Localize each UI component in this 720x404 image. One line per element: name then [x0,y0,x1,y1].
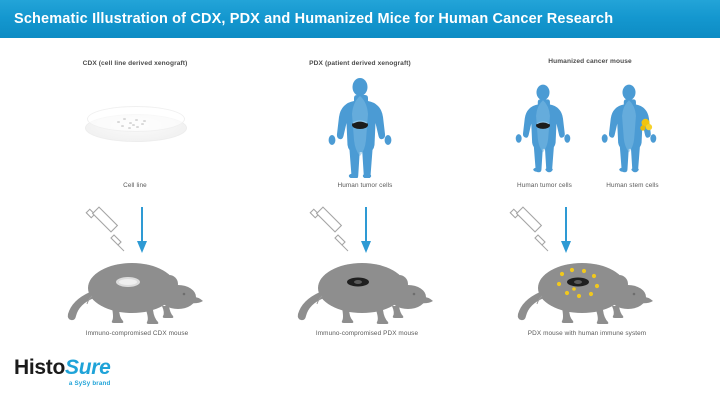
result-caption-cdx: Immuno-compromised CDX mouse [57,330,217,337]
tumor-marker [347,278,369,287]
syringe-icon [510,207,548,251]
page-title: Schematic Illustration of CDX, PDX and H… [14,0,613,38]
syringe-icon [86,207,124,251]
injection-group-pdx [308,205,380,257]
logo-tagline: a SySy brand [14,380,111,387]
histosure-logo: HistoSure a SySy brand [14,357,111,387]
mouse-icon [512,256,662,326]
mouse-icon [292,256,442,326]
human-figure-humanized-stem [596,78,662,178]
injection-group-humanized [508,205,580,257]
title-banner: Schematic Illustration of CDX, PDX and H… [0,0,720,38]
column-header-pdx: PDX (patient derived xenograft) [280,60,440,67]
source-label-cdx: Cell line [85,182,185,189]
column-header-humanized: Humanized cancer mouse [505,58,675,65]
injection-group-cdx [84,205,156,257]
result-caption-humanized: PDX mouse with human immune system [497,330,677,337]
tumor-marker [116,277,140,287]
human-silhouette-icon [322,78,398,178]
logo-sure-text: Sure [65,356,111,379]
mouse-pdx [292,256,442,326]
result-caption-pdx: Immuno-compromised PDX mouse [287,330,447,337]
human-figure-pdx [322,78,398,178]
human-figure-humanized-tumor [510,78,576,178]
logo-histo-text: Histo [14,356,65,379]
down-arrow-icon [137,207,147,253]
petri-dish [85,104,185,144]
syringe-icon [310,207,348,251]
cell-culture-dots [115,118,155,132]
source-label-humanized-stem: Human stem cells [585,182,680,189]
mouse-humanized [512,256,662,326]
logo-wordmark: HistoSure [14,357,111,379]
mouse-icon [62,256,212,326]
down-arrow-icon [561,207,571,253]
source-label-humanized-tumor: Human tumor cells [497,182,592,189]
tumor-marker [567,278,589,287]
column-header-cdx: CDX (cell line derived xenograft) [55,60,215,67]
slide-canvas: Schematic Illustration of CDX, PDX and H… [0,0,720,404]
human-silhouette-icon [510,78,576,178]
down-arrow-icon [361,207,371,253]
human-silhouette-icon [596,78,662,178]
mouse-cdx [62,256,212,326]
source-label-pdx: Human tumor cells [310,182,420,189]
